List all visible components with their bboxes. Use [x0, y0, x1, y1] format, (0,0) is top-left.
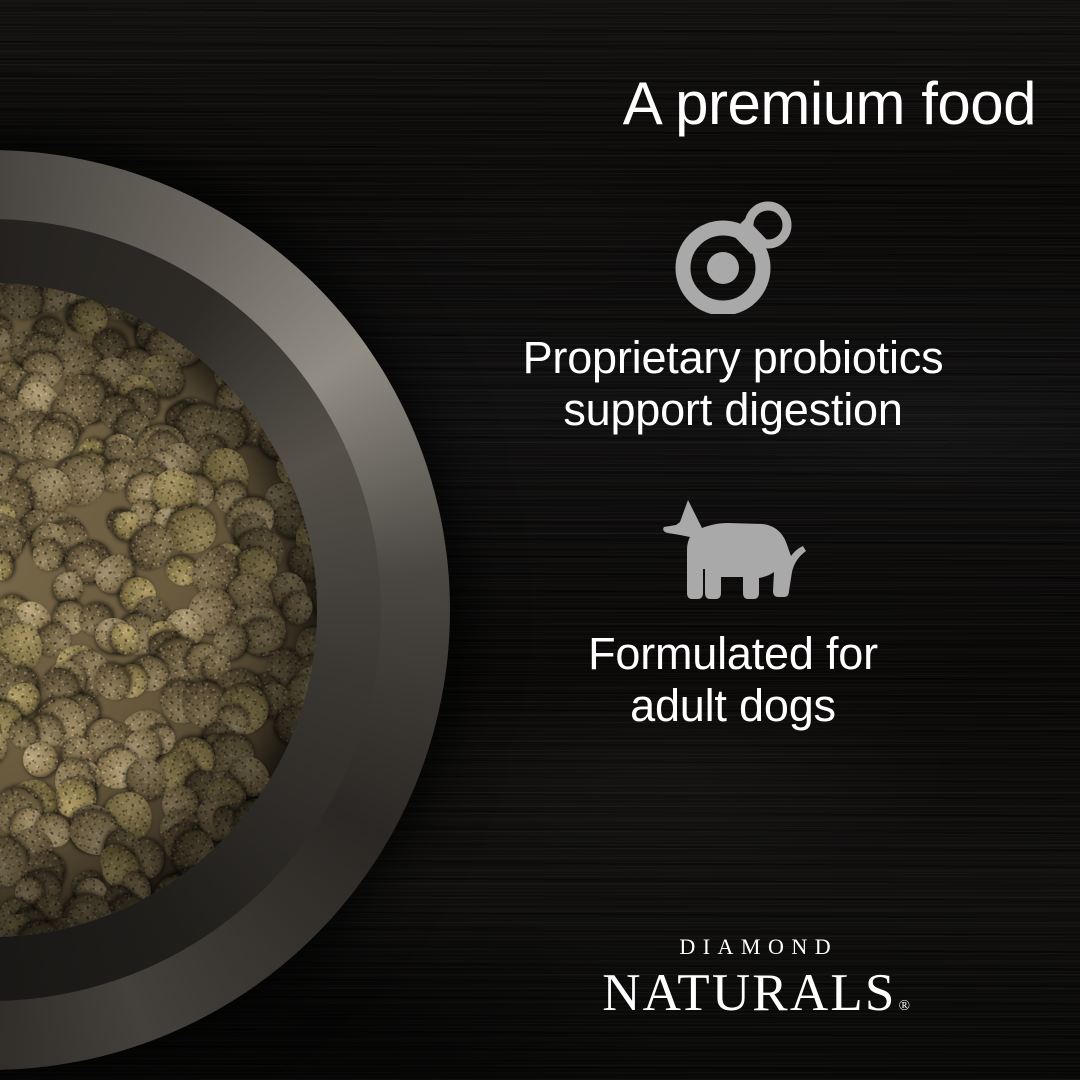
brand-name-naturals: NATURALS® — [430, 967, 1080, 1020]
brand-name-diamond: DIAMOND — [430, 936, 1080, 958]
feature-adult-dogs-line-2: adult dogs — [430, 680, 1036, 732]
marketing-copy-column: A premium food Proprietary probiotics su… — [430, 0, 1080, 1080]
kibble-pieces — [0, 283, 317, 936]
brand-logo: DIAMOND NATURALS® — [430, 936, 1080, 1020]
page-title: A premium food — [623, 72, 1036, 135]
promo-graphic: A premium food Proprietary probiotics su… — [0, 0, 1080, 1080]
brand-name-naturals-word: NATURALS — [602, 964, 896, 1022]
kibble-fill-area — [0, 283, 317, 936]
feature-adult-dogs: Formulated for adult dogs — [430, 494, 1036, 732]
dog-silhouette-icon — [658, 494, 808, 606]
feature-probiotics: Proprietary probiotics support digestion — [430, 196, 1036, 436]
dog-food-bowl-photo — [0, 150, 450, 1070]
feature-probiotics-text: Proprietary probiotics support digestion — [430, 332, 1036, 436]
feature-probiotics-line-1: Proprietary probiotics — [430, 332, 1036, 384]
feature-adult-dogs-text: Formulated for adult dogs — [430, 628, 1036, 732]
feature-probiotics-line-2: support digestion — [430, 384, 1036, 436]
registered-trademark-symbol: ® — [899, 998, 910, 1014]
feature-adult-dogs-line-1: Formulated for — [430, 628, 1036, 680]
probiotic-cell-icon — [671, 196, 795, 314]
